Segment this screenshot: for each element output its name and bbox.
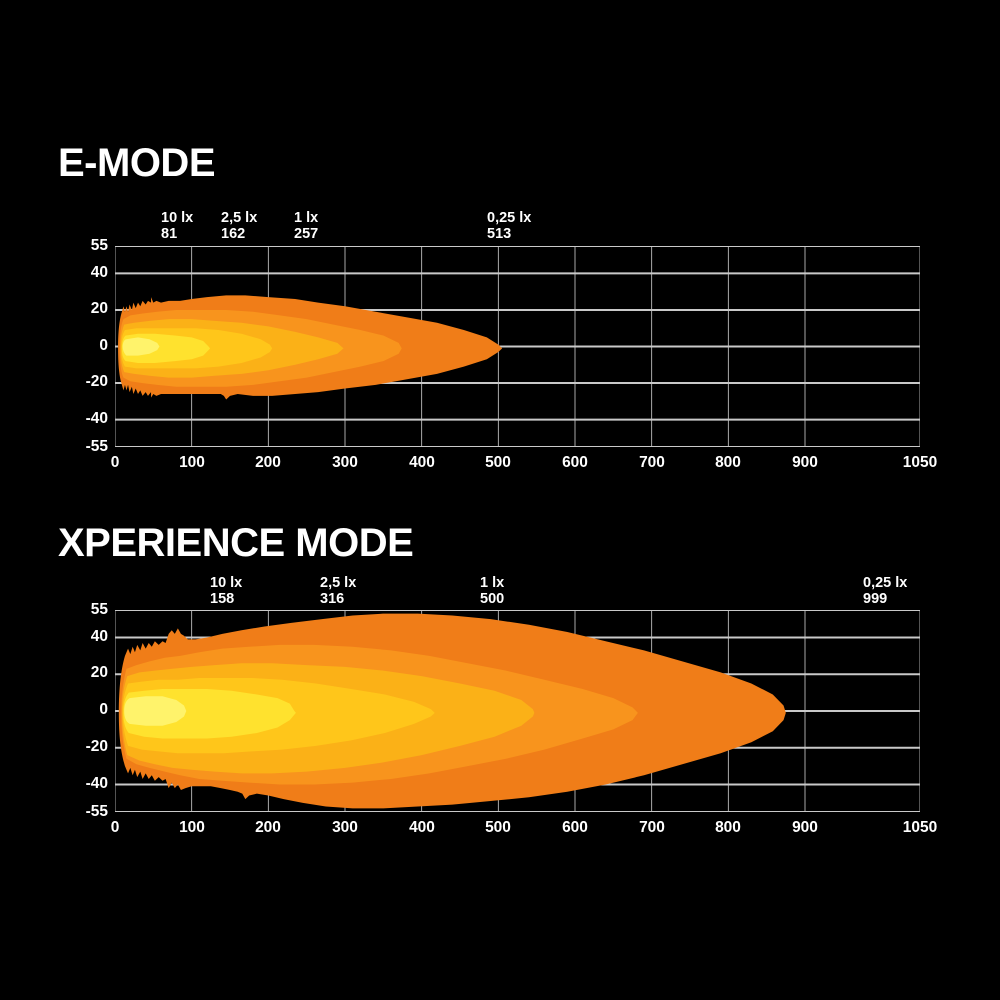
x-tick: 100 xyxy=(179,819,205,836)
x-tick: 600 xyxy=(562,819,588,836)
y-tick: 20 xyxy=(62,301,108,317)
x-tick: 100 xyxy=(179,454,205,471)
y-tick: 0 xyxy=(62,702,108,718)
chart-xperience-mode: XPERIENCE MODE 10 lx 158 2,5 lx 316 1 lx… xyxy=(0,520,1000,880)
y-tick: 0 xyxy=(62,338,108,354)
beam-bands-xperience-mode xyxy=(119,614,786,809)
y-tick: -55 xyxy=(62,439,108,455)
annotation-1lx-e-mode: 1 lx 257 xyxy=(294,210,318,242)
x-tick: 900 xyxy=(792,454,818,471)
x-tick: 800 xyxy=(715,454,741,471)
x-tick: 600 xyxy=(562,454,588,471)
x-axis-e-mode: 0 100 200 300 400 500 600 700 800 900 10… xyxy=(0,454,1000,474)
x-tick: 500 xyxy=(485,454,511,471)
x-tick: 800 xyxy=(715,819,741,836)
x-tick: 0 xyxy=(111,819,120,836)
x-tick: 900 xyxy=(792,819,818,836)
plot-area-e-mode xyxy=(115,246,920,447)
y-axis-e-mode: 55 40 20 0 -20 -40 -55 xyxy=(60,246,108,447)
annotation-0_25lx-e-mode: 0,25 lx 513 xyxy=(487,210,531,242)
y-tick: 40 xyxy=(62,629,108,645)
x-tick: 1050 xyxy=(903,819,937,836)
chart-title-xperience-mode: XPERIENCE MODE xyxy=(58,520,413,566)
x-axis-xperience-mode: 0 100 200 300 400 500 600 700 800 900 10… xyxy=(0,819,1000,839)
x-tick: 400 xyxy=(409,454,435,471)
annotation-2_5lx-e-mode: 2,5 lx 162 xyxy=(221,210,257,242)
y-tick: -40 xyxy=(62,411,108,427)
y-tick: -20 xyxy=(62,374,108,390)
y-tick: -20 xyxy=(62,739,108,755)
x-tick: 500 xyxy=(485,819,511,836)
y-tick: 55 xyxy=(62,238,108,254)
x-tick: 700 xyxy=(639,454,665,471)
x-tick: 700 xyxy=(639,819,665,836)
annotation-10lx-e-mode: 10 lx 81 xyxy=(161,210,193,242)
annotation-10lx-xperience-mode: 10 lx 158 xyxy=(210,575,242,607)
y-tick: 40 xyxy=(62,265,108,281)
x-tick: 200 xyxy=(255,819,281,836)
beam-pattern-page: E-MODE 10 lx 81 2,5 lx 162 1 lx 257 0,25… xyxy=(0,0,1000,1000)
annotation-0_25lx-xperience-mode: 0,25 lx 999 xyxy=(863,575,907,607)
x-tick: 200 xyxy=(255,454,281,471)
plot-area-xperience-mode xyxy=(115,610,920,812)
annotation-1lx-xperience-mode: 1 lx 500 xyxy=(480,575,504,607)
x-tick: 300 xyxy=(332,819,358,836)
x-tick: 300 xyxy=(332,454,358,471)
y-tick: 20 xyxy=(62,665,108,681)
x-tick: 400 xyxy=(409,819,435,836)
y-tick: -55 xyxy=(62,804,108,820)
y-tick: -40 xyxy=(62,776,108,792)
chart-title-e-mode: E-MODE xyxy=(58,140,215,186)
beam-pattern-svg-xperience-mode xyxy=(115,610,920,812)
y-axis-xperience-mode: 55 40 20 0 -20 -40 -55 xyxy=(60,610,108,812)
y-tick: 55 xyxy=(62,602,108,618)
x-tick: 1050 xyxy=(903,454,937,471)
x-tick: 0 xyxy=(111,454,120,471)
annotation-2_5lx-xperience-mode: 2,5 lx 316 xyxy=(320,575,356,607)
beam-pattern-svg-e-mode xyxy=(115,246,920,447)
beam-band-hotspot xyxy=(124,696,186,725)
chart-e-mode: E-MODE 10 lx 81 2,5 lx 162 1 lx 257 0,25… xyxy=(0,140,1000,490)
